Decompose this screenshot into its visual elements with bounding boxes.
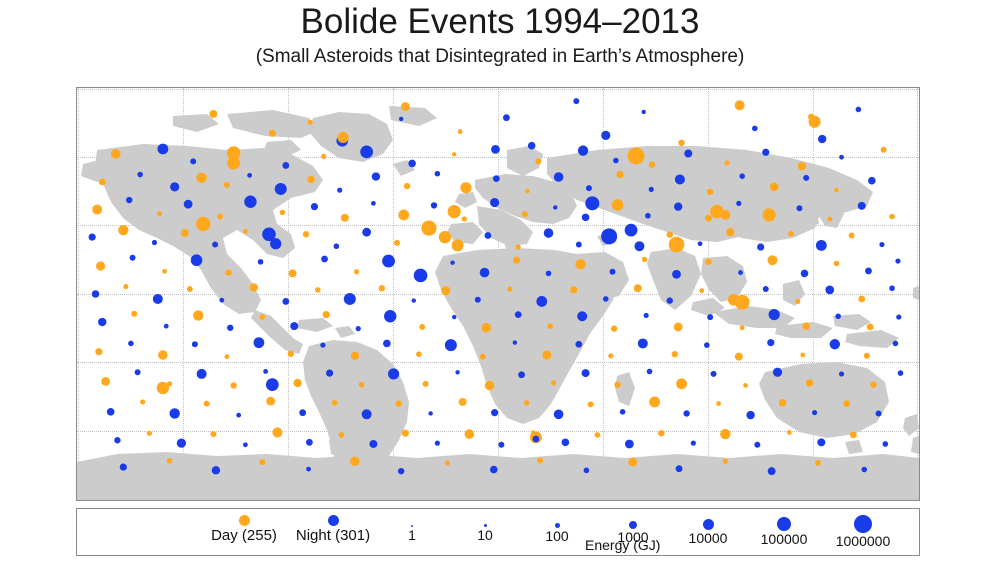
- legend-size-1000000: 1000000: [817, 515, 909, 549]
- bolide-point-day: [480, 354, 486, 360]
- bolide-point-day: [735, 295, 750, 310]
- bolide-point-day: [266, 397, 275, 406]
- bolide-point-night: [362, 228, 371, 237]
- bolide-point-day: [259, 459, 265, 465]
- bolide-point-night: [212, 466, 220, 474]
- bolide-point-night: [493, 175, 500, 182]
- bolide-point-night: [544, 228, 554, 238]
- bolide-point-night: [382, 255, 395, 268]
- bolide-point-day: [858, 296, 865, 303]
- bolide-point-day: [269, 130, 276, 137]
- bolide-point-day: [779, 399, 787, 407]
- bolide-point-night: [816, 240, 827, 251]
- bolide-point-day: [870, 381, 876, 387]
- bolide-point-day: [542, 350, 551, 359]
- bolide-point-night: [137, 172, 143, 178]
- bolide-point-night: [326, 370, 333, 377]
- bolide-point-day: [419, 324, 425, 330]
- bolide-point-night: [412, 298, 416, 302]
- bolide-point-night: [603, 296, 609, 302]
- bolide-point-night: [757, 243, 764, 250]
- bolide-point-night: [299, 409, 306, 416]
- bolide-point-night: [625, 440, 634, 449]
- legend-size-1: 1: [382, 519, 442, 543]
- bolide-point-night: [128, 341, 134, 347]
- bolide-point-day: [507, 286, 512, 291]
- bolide-point-day: [547, 323, 553, 329]
- bolide-point-day: [217, 214, 223, 220]
- legend-size-label: 10000: [670, 530, 746, 546]
- bolide-point-night: [895, 258, 900, 263]
- bolide-point-day: [272, 427, 282, 437]
- size-dot-icon: [629, 521, 637, 529]
- bolide-point-day: [798, 162, 806, 170]
- bolide-point-night: [883, 441, 889, 447]
- bolide-point-day: [535, 158, 541, 164]
- size-dot-icon: [777, 517, 791, 531]
- bolide-point-night: [491, 145, 500, 154]
- bolide-point-night: [243, 442, 248, 447]
- bolide-point-night: [344, 293, 356, 305]
- bolide-point-day: [850, 432, 857, 439]
- bolide-point-night: [573, 98, 579, 104]
- legend-night[interactable]: Night (301): [273, 515, 393, 544]
- bolide-point-night: [767, 339, 774, 346]
- bolide-point-day: [834, 261, 840, 267]
- bolide-point-night: [192, 341, 198, 347]
- bolide-point-day: [293, 379, 301, 387]
- bolide-point-day: [259, 314, 265, 320]
- legend-size-100000: 100000: [743, 517, 825, 547]
- bolide-point-day: [485, 381, 495, 391]
- bolide-point-day: [551, 380, 556, 385]
- bolide-point-night: [247, 173, 252, 178]
- bolide-point-day: [224, 354, 229, 359]
- bolide-point-day: [162, 269, 167, 274]
- bolide-point-night: [334, 243, 340, 249]
- bolide-point-night: [384, 310, 396, 322]
- bolide-point-day: [707, 189, 713, 195]
- bolide-point-day: [225, 269, 231, 275]
- bolide-point-day: [716, 401, 721, 406]
- bolide-point-day: [595, 432, 601, 438]
- legend-size-label: 100: [527, 528, 587, 544]
- bolide-point-night: [707, 314, 713, 320]
- bolide-point-night: [383, 340, 391, 348]
- bolide-point-day: [642, 257, 647, 262]
- bolide-point-night: [536, 296, 547, 307]
- bolide-point-night: [120, 463, 127, 470]
- bolide-point-night: [762, 149, 769, 156]
- bolide-point-day: [452, 239, 464, 251]
- bolide-point-night: [431, 202, 437, 208]
- bolide-point-night: [455, 370, 459, 374]
- bolide-point-night: [452, 315, 456, 319]
- bolide-point-night: [490, 466, 498, 474]
- bolide-point-day: [802, 322, 810, 330]
- bolide-point-night: [164, 324, 169, 329]
- bolide-point-day: [705, 215, 712, 222]
- bolide-point-day: [95, 348, 102, 355]
- bolide-point-night: [830, 339, 840, 349]
- bolide-point-night: [371, 201, 376, 206]
- bolide-point-night: [763, 286, 769, 292]
- bolide-point-night: [865, 268, 872, 275]
- bolide-point-night: [282, 298, 289, 305]
- bolide-point-night: [601, 131, 610, 140]
- title-block: Bolide Events 1994–2013 (Small Asteroids…: [0, 0, 1000, 68]
- bolide-point-day: [401, 102, 410, 111]
- bolide-point-night: [675, 174, 685, 184]
- bolide-point-night: [126, 197, 132, 203]
- bolide-point-day: [658, 430, 664, 436]
- bolide-point-night: [647, 369, 653, 375]
- bolide-point-night: [177, 439, 186, 448]
- bolide-point-night: [428, 411, 432, 415]
- bolide-point-night: [856, 107, 862, 113]
- bolide-point-night: [518, 371, 525, 378]
- bolide-point-day: [441, 286, 450, 295]
- bolide-point-night: [157, 144, 168, 155]
- bolide-point-night: [491, 409, 498, 416]
- bolide-point-day: [379, 285, 385, 291]
- bolide-point-night: [582, 214, 590, 222]
- map-canvas: [77, 88, 919, 500]
- bolide-point-day: [459, 398, 467, 406]
- bolide-point-night: [282, 162, 289, 169]
- bolide-point-day: [628, 147, 645, 164]
- bolide-point-night: [262, 227, 276, 241]
- bolide-point-day: [92, 205, 102, 215]
- bolide-point-day: [404, 183, 410, 189]
- bolide-point-night: [676, 465, 683, 472]
- bolide-point-day: [787, 430, 792, 435]
- bolide-point-night: [645, 213, 651, 219]
- bolide-point-day: [649, 161, 655, 167]
- legend-panel: Day (255) Night (301) 1 10 100 1000 1000…: [76, 508, 920, 556]
- page-subtitle: (Small Asteroids that Disintegrated in E…: [0, 46, 1000, 68]
- bolide-point-night: [553, 205, 557, 209]
- bolide-point-day: [339, 432, 345, 438]
- size-dot-icon: [854, 515, 872, 533]
- bolide-point-night: [667, 297, 673, 303]
- bolide-point-night: [153, 294, 163, 304]
- bolide-point-night: [576, 242, 582, 248]
- bolide-point-night: [227, 325, 233, 331]
- bolide-point-night: [577, 311, 587, 321]
- bolide-point-night: [98, 318, 106, 326]
- bolide-point-day: [608, 353, 613, 358]
- bolide-point-night: [773, 368, 782, 377]
- bolide-point-day: [674, 323, 683, 332]
- bolide-point-day: [612, 199, 624, 211]
- bolide-point-night: [130, 255, 136, 261]
- bolide-point-night: [360, 145, 373, 158]
- bolide-point-day: [111, 149, 121, 159]
- bolide-point-night: [704, 342, 710, 348]
- bolide-point-day: [289, 269, 297, 277]
- bolide-point-day: [588, 401, 594, 407]
- bolide-point-night: [649, 187, 654, 192]
- bolide-point-night: [879, 242, 884, 247]
- bolide-point-night: [738, 270, 743, 275]
- bolide-point-day: [118, 225, 128, 235]
- bolide-point-night: [746, 411, 754, 419]
- bolide-point-night: [839, 155, 844, 160]
- bolide-point-night: [768, 467, 776, 475]
- bolide-point-day: [740, 325, 745, 330]
- bolide-point-night: [889, 285, 895, 291]
- bolide-point-day: [196, 217, 210, 231]
- bolide-point-day: [458, 129, 463, 134]
- bolide-point-night: [398, 468, 404, 474]
- bolide-point-night: [739, 173, 745, 179]
- bolide-point-night: [582, 369, 590, 377]
- bolide-point-night: [513, 340, 517, 344]
- bolide-point-day: [570, 286, 577, 293]
- day-swatch-icon: [239, 515, 250, 526]
- bolide-point-night: [638, 338, 648, 348]
- bolide-point-day: [460, 182, 471, 193]
- bolide-point-night: [372, 172, 380, 180]
- bolide-point-night: [601, 228, 617, 244]
- bolide-point-night: [691, 441, 696, 446]
- bolide-point-day: [525, 189, 529, 193]
- bolide-point-night: [578, 145, 588, 155]
- bolide-point-night: [414, 269, 428, 283]
- bolide-point-day: [735, 100, 745, 110]
- bolide-point-day: [763, 208, 776, 221]
- bolide-point-day: [243, 229, 248, 234]
- bolide-point-day: [332, 400, 338, 406]
- bolide-point-day: [101, 377, 110, 386]
- bolide-point-night: [515, 311, 522, 318]
- bolide-point-night: [263, 369, 268, 374]
- bolide-point-night: [684, 150, 692, 158]
- bolide-point-night: [817, 438, 825, 446]
- bolide-point-night: [801, 270, 809, 278]
- bolide-point-night: [253, 337, 264, 348]
- bolide-point-night: [532, 436, 539, 443]
- bolide-point-day: [720, 429, 730, 439]
- bolide-point-day: [735, 353, 743, 361]
- bolide-point-night: [107, 408, 115, 416]
- bolide-point-day: [187, 286, 193, 292]
- legend-size-label: 1: [382, 527, 442, 543]
- bolide-point-day: [800, 353, 805, 358]
- bolide-point-night: [575, 341, 582, 348]
- bolide-point-night: [584, 468, 590, 474]
- bolide-point-day: [726, 228, 734, 236]
- bolide-point-night: [135, 369, 141, 375]
- legend-size-label: 10: [455, 527, 515, 543]
- bolide-point-day: [770, 182, 779, 191]
- bolide-point-night: [321, 256, 328, 263]
- bolide-point-night: [554, 172, 564, 182]
- bolide-point-day: [439, 231, 451, 243]
- bolide-point-day: [158, 350, 168, 360]
- bolide-point-night: [258, 259, 264, 265]
- bolide-point-night: [554, 410, 564, 420]
- bolide-point-night: [698, 241, 703, 246]
- bolide-point-day: [448, 205, 461, 218]
- bolide-point-night: [445, 339, 457, 351]
- bolide-point-night: [356, 326, 361, 331]
- bolide-point-night: [644, 313, 649, 318]
- legend-size-10000: 10000: [670, 518, 746, 546]
- bolide-point-day: [628, 458, 637, 467]
- bolide-point-night: [585, 196, 599, 210]
- bolide-point-night: [868, 177, 876, 185]
- bolide-point-day: [359, 382, 365, 388]
- bolide-point-night: [528, 142, 536, 150]
- bolide-point-day: [416, 351, 422, 357]
- bolide-point-day: [341, 214, 349, 222]
- bolide-point-day: [321, 154, 326, 159]
- bolide-point-night: [320, 342, 325, 347]
- bolide-point-night: [197, 369, 207, 379]
- bolide-point-day: [147, 431, 152, 436]
- bolide-point-night: [641, 110, 645, 114]
- bolide-point-night: [674, 202, 682, 210]
- bolide-point-night: [89, 234, 96, 241]
- bolide-point-day: [705, 259, 711, 265]
- bolide-point-day: [303, 231, 309, 237]
- bolide-point-day: [611, 325, 617, 331]
- bolide-point-day: [795, 299, 800, 304]
- bolide-point-day: [537, 457, 543, 463]
- bolide-point-day: [667, 231, 673, 237]
- bolide-point-day: [315, 287, 321, 293]
- bolide-point-night: [812, 410, 817, 415]
- bolide-point-night: [212, 242, 218, 248]
- bolide-point-day: [513, 257, 520, 264]
- bolide-point-day: [669, 237, 685, 253]
- bolide-point-day: [524, 400, 529, 405]
- bolide-point-night: [114, 437, 120, 443]
- bolide-point-day: [350, 456, 360, 466]
- bolide-point-night: [191, 254, 203, 266]
- legend-size-10: 10: [455, 519, 515, 543]
- bolide-point-day: [720, 210, 730, 220]
- bolide-point-night: [450, 260, 454, 264]
- bolide-point-night: [498, 442, 504, 448]
- bolide-point-night: [711, 371, 717, 377]
- bolide-point-night: [620, 409, 626, 415]
- bolide-point-night: [184, 200, 193, 209]
- bolide-point-day: [445, 460, 450, 465]
- bolide-point-day: [616, 171, 623, 178]
- bolide-point-night: [311, 203, 318, 210]
- bolide-point-day: [465, 429, 475, 439]
- bolide-point-night: [796, 205, 802, 211]
- bolide-point-day: [827, 217, 832, 222]
- bolide-point-night: [306, 467, 311, 472]
- bolide-point-day: [849, 233, 855, 239]
- bolide-point-day: [99, 179, 106, 186]
- bolide-point-night: [480, 268, 490, 278]
- bolide-point-day: [337, 132, 348, 143]
- bolide-point-night: [546, 271, 552, 277]
- bolide-point-night: [236, 413, 241, 418]
- bolide-point-night: [190, 158, 196, 164]
- bolide-point-day: [230, 382, 236, 388]
- bolide-point-day: [516, 244, 521, 249]
- legend-size-100: 100: [527, 519, 587, 544]
- bolide-point-night: [503, 114, 510, 121]
- bolide-points-layer: [77, 88, 919, 500]
- bolide-point-day: [308, 120, 313, 125]
- night-swatch-icon: [328, 515, 339, 526]
- bolide-point-night: [170, 182, 179, 191]
- bolide-point-day: [157, 211, 162, 216]
- bolide-point-night: [244, 196, 256, 208]
- bolide-point-night: [876, 410, 882, 416]
- bolide-point-day: [307, 176, 315, 184]
- bolide-point-day: [209, 110, 217, 118]
- bolide-point-day: [767, 255, 777, 265]
- bolide-point-night: [586, 185, 592, 191]
- bolide-point-day: [452, 152, 456, 156]
- bolide-point-day: [398, 210, 409, 221]
- energy-axis-label: Energy (GJ): [585, 537, 660, 553]
- bolide-point-night: [752, 126, 758, 132]
- bolide-point-day: [676, 378, 687, 389]
- bolide-point-night: [839, 371, 844, 376]
- bolide-point-night: [388, 368, 399, 379]
- bolide-point-day: [867, 324, 874, 331]
- bolide-point-night: [369, 440, 377, 448]
- bolide-point-day: [809, 116, 821, 128]
- bolide-point-night: [672, 270, 681, 279]
- bolide-point-day: [354, 269, 359, 274]
- bolide-point-day: [724, 160, 729, 165]
- bolide-point-day: [280, 210, 286, 216]
- bolide-point-day: [402, 430, 409, 437]
- bolide-point-night: [435, 171, 441, 177]
- bolide-point-day: [323, 311, 330, 318]
- bolide-point-day: [227, 156, 240, 169]
- bolide-point-night: [736, 201, 741, 206]
- bolide-point-day: [522, 211, 528, 217]
- bolide-point-day: [96, 261, 105, 270]
- bolide-point-day: [788, 231, 794, 237]
- bolide-point-day: [196, 173, 206, 183]
- bolide-point-night: [475, 297, 481, 303]
- bolide-point-day: [864, 353, 870, 359]
- bolide-point-night: [92, 290, 100, 298]
- bolide-point-night: [490, 198, 499, 207]
- bolide-point-night: [893, 341, 899, 347]
- bolide-point-night: [835, 313, 841, 319]
- bolide-point-night: [754, 442, 760, 448]
- bolide-point-night: [562, 439, 570, 447]
- bolide-point-day: [834, 188, 839, 193]
- bolide-point-day: [193, 310, 203, 320]
- bolide-point-day: [889, 214, 895, 220]
- bolide-point-day: [678, 140, 684, 146]
- bolide-point-day: [204, 401, 210, 407]
- bolide-point-day: [210, 431, 216, 437]
- bolide-point-night: [898, 370, 904, 376]
- bolide-point-day: [575, 259, 585, 269]
- bolide-point-night: [169, 408, 179, 418]
- bolide-point-day: [421, 220, 436, 235]
- bolide-point-night: [858, 202, 866, 210]
- bolide-point-day: [843, 400, 850, 407]
- bolide-point-day: [723, 459, 728, 464]
- bolide-point-night: [803, 175, 809, 181]
